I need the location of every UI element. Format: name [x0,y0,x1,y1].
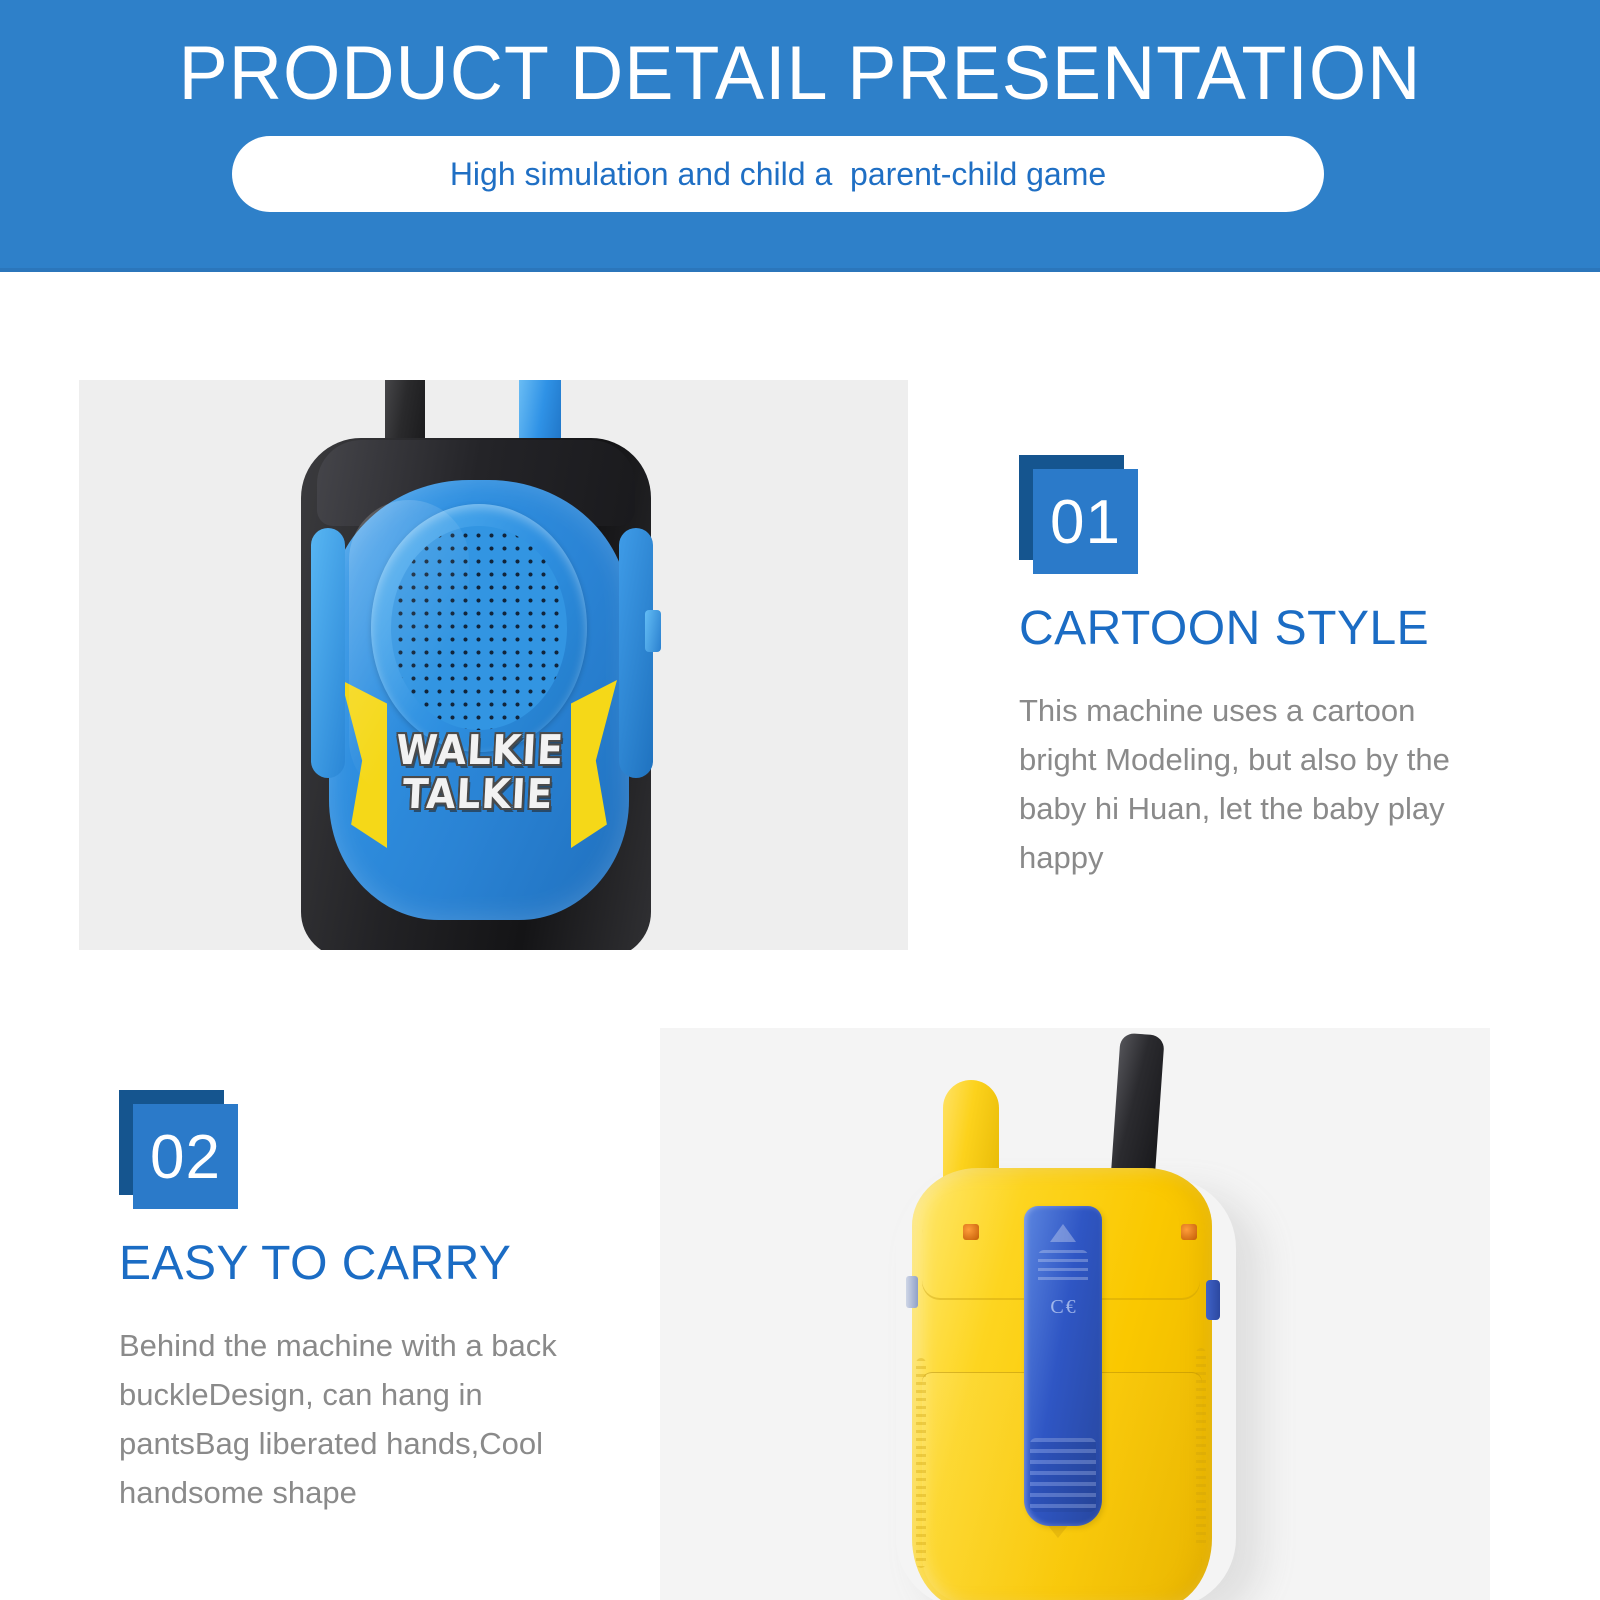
page-title: PRODUCT DETAIL PRESENTATION [24,28,1576,120]
speaker-grille-icon [391,526,567,730]
feature-block-01: 01 CARTOON STYLE This machine uses a car… [1019,455,1489,882]
clip-grip-texture [1030,1438,1096,1512]
ce-mark-icon: C€ [1038,1296,1090,1319]
feature-number-01: 01 [1033,469,1138,574]
screw-icon-right [1181,1224,1197,1240]
clip-ribs-texture [1038,1250,1088,1286]
side-rail-left [311,528,345,778]
feature-number-badge-01: 01 [1019,455,1138,574]
subtitle-pill: High simulation and child a parent-child… [232,136,1324,212]
page-subtitle: High simulation and child a parent-child… [232,136,1324,212]
clip-triangle-icon [1050,1224,1076,1242]
feature-number-badge-02: 02 [119,1090,238,1209]
feature-block-02: 02 EASY TO CARRY Behind the machine with… [119,1090,589,1517]
side-rail-right [619,528,653,778]
blue-walkie-talkie-illustration: WALKIE TALKIE [79,380,908,950]
feature-body-02: Behind the machine with a back buckleDes… [119,1321,569,1517]
screw-icon-left [963,1224,979,1240]
feature-number-02: 02 [133,1104,238,1209]
side-knob [645,610,661,652]
product-logo-text: WALKIE TALKIE [355,728,602,816]
product-photo-yellow-walkie-talkie: C€ [660,1028,1490,1600]
product-photo-blue-walkie-talkie: WALKIE TALKIE [79,380,908,950]
feature-body-01: This machine uses a cartoon bright Model… [1019,686,1469,882]
side-button-left [906,1276,918,1308]
header-banner: PRODUCT DETAIL PRESENTATION High simulat… [0,0,1600,272]
yellow-walkie-talkie-illustration: C€ [660,1028,1490,1600]
body-edge-texture-left [916,1358,926,1568]
side-button-right [1206,1280,1220,1320]
body-edge-texture-right [1196,1348,1206,1548]
feature-title-01: CARTOON STYLE [1019,600,1489,658]
feature-title-02: EASY TO CARRY [119,1235,589,1293]
